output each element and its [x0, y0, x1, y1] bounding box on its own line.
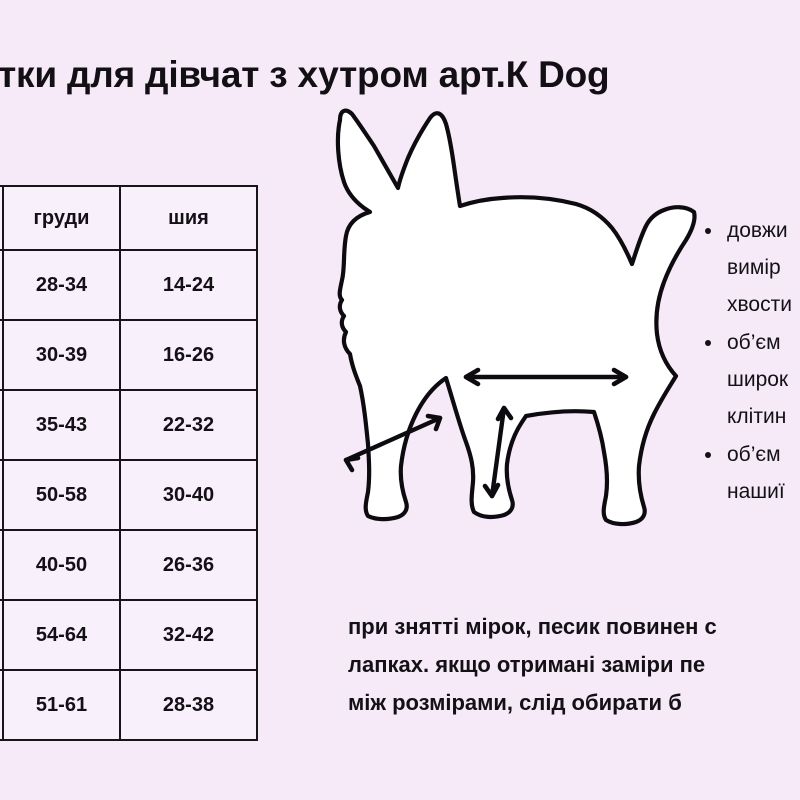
table-row: 30-39 16-26: [0, 320, 257, 390]
table-row: 35-43 22-32: [0, 390, 257, 460]
cell-chest: 35-43: [3, 390, 120, 460]
cell-neck: 28-38: [120, 670, 257, 740]
cell-chest: 30-39: [3, 320, 120, 390]
column-header-chest: груди: [3, 186, 120, 250]
cell-chest: 50-58: [3, 460, 120, 530]
cell-neck: 26-36: [120, 530, 257, 600]
cell-neck: 14-24: [120, 250, 257, 320]
measurement-instructions-list: довжи вимір хвости об’єм широк клітин об…: [700, 212, 800, 511]
cell-chest: 51-61: [3, 670, 120, 740]
table-row: 50-58 30-40: [0, 460, 257, 530]
dog-silhouette-icon: [338, 111, 695, 524]
table-row: 51-61 28-38: [0, 670, 257, 740]
column-header-neck: шия: [120, 186, 257, 250]
cell-neck: 16-26: [120, 320, 257, 390]
table-header-row: а груди шия: [0, 186, 257, 250]
cell-neck: 32-42: [120, 600, 257, 670]
cell-chest: 28-34: [3, 250, 120, 320]
table-row: 28-34 14-24: [0, 250, 257, 320]
cell-neck: 22-32: [120, 390, 257, 460]
table-row: 40-50 26-36: [0, 530, 257, 600]
list-item: об’єм нашиї: [700, 436, 800, 510]
cell-neck: 30-40: [120, 460, 257, 530]
dog-measurement-diagram: [326, 108, 704, 536]
cell-chest: 40-50: [3, 530, 120, 600]
list-item: об’єм широк клітин: [700, 324, 800, 435]
table-row: 54-64 32-42: [0, 600, 257, 670]
list-item: довжи вимір хвости: [700, 212, 800, 323]
size-table: а груди шия 28-34 14-24 30-39 16-26 35-4…: [0, 185, 258, 741]
measurement-note: при знятті мірок, песик повинен с лапках…: [348, 608, 800, 722]
size-chart-page: куртки для дівчат з хутром арт.К Dog а г…: [0, 0, 800, 800]
page-title: куртки для дівчат з хутром арт.К Dog: [0, 52, 800, 98]
cell-chest: 54-64: [3, 600, 120, 670]
